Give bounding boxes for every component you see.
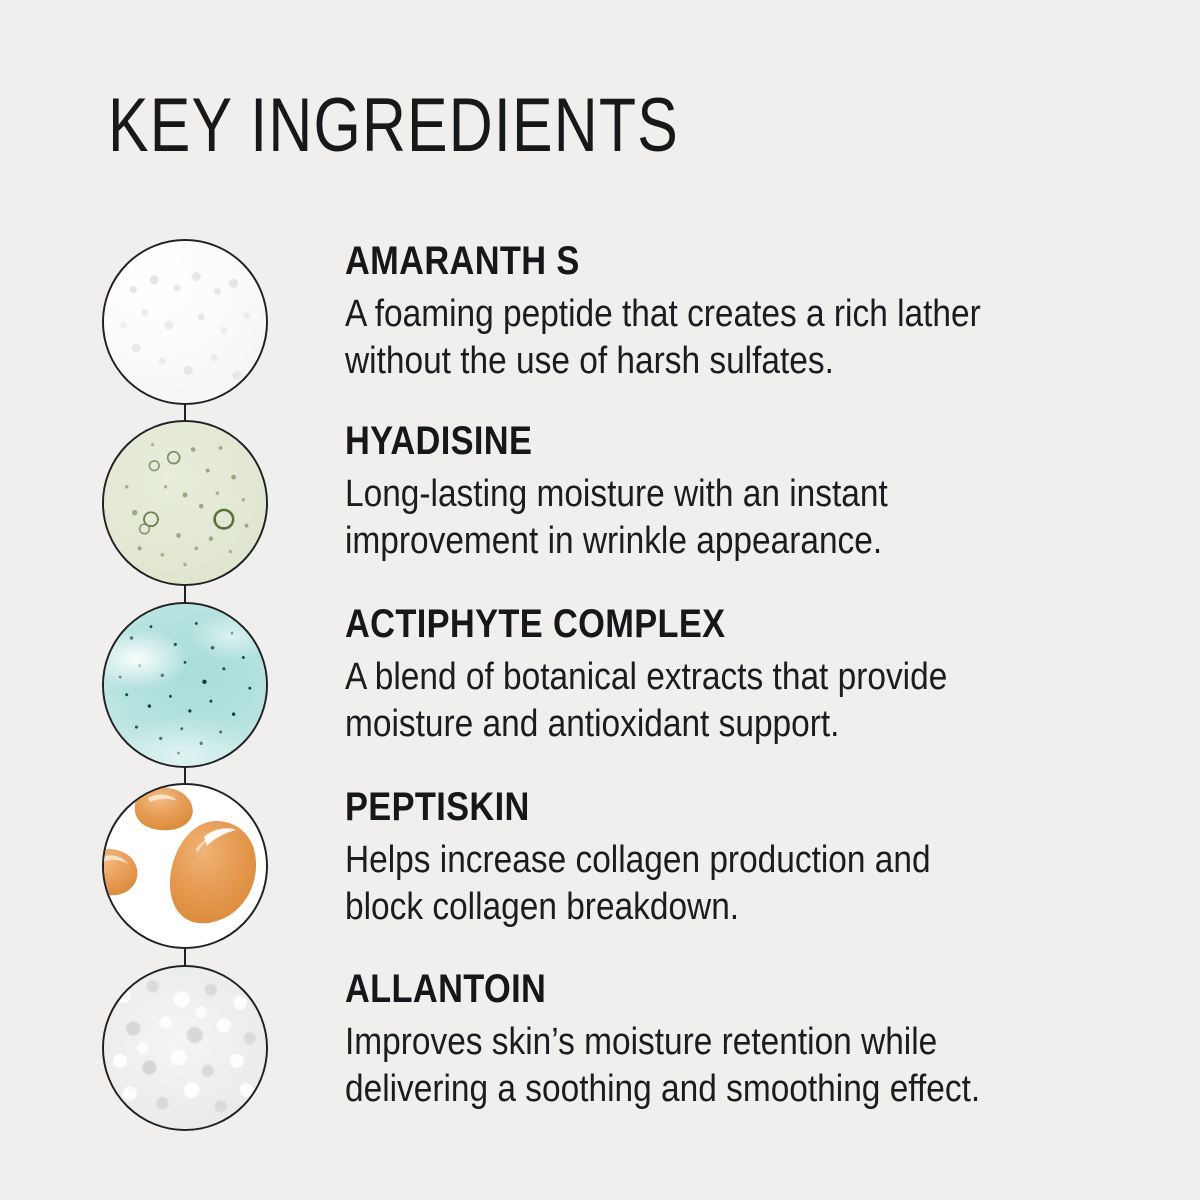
ingredient-swatch-amaranth-s [102,239,268,405]
list-item: HYADISINE Long-lasting moisture with an … [345,421,1090,565]
ingredient-swatch-peptiskin [102,783,268,949]
swatch-chain [0,0,300,1200]
ingredient-swatch-hyadisine [102,420,268,586]
ingredient-name: HYADISINE [345,421,986,462]
ingredient-name: ACTIPHYTE COMPLEX [345,604,986,645]
connector-line [184,586,186,620]
white-powder-swatch-icon [104,967,266,1129]
ingredient-description: A blend of botanical extracts that provi… [345,654,1001,748]
orange-serum-blobs [104,785,268,949]
ingredient-description: Long-lasting moisture with an instant im… [345,471,1001,565]
list-item: ALLANTOIN Improves skin’s moisture reten… [345,969,1090,1113]
orange-serum-swatch-icon [104,785,266,947]
ingredient-description: A foaming peptide that creates a rich la… [345,291,1001,385]
ingredient-description: Helps increase collagen production and b… [345,837,1001,931]
ingredient-name: PEPTISKIN [345,787,986,828]
connector-line [184,767,186,801]
ingredient-list: AMARANTH S A foaming peptide that create… [345,0,1105,1200]
aqua-gel-speckle-texture [104,604,266,766]
connector-line [184,949,186,983]
ingredient-name: ALLANTOIN [345,969,986,1010]
key-ingredients-panel: KEY INGREDIENTS [0,0,1200,1200]
aqua-gel-sheen [104,604,266,766]
list-item: ACTIPHYTE COMPLEX A blend of botanical e… [345,604,1090,748]
ingredient-description: Improves skin’s moisture retention while… [345,1019,1001,1113]
foam-swatch-icon [104,241,266,403]
ingredient-name: AMARANTH S [345,241,986,282]
list-item: AMARANTH S A foaming peptide that create… [345,241,1090,385]
list-item: PEPTISKIN Helps increase collagen produc… [345,787,1090,931]
ingredient-swatch-actiphyte-complex [102,602,268,768]
ingredient-swatch-allantoin [102,965,268,1131]
green-gel-bubbles-texture [104,422,266,584]
powder-grain-texture [104,967,266,1129]
foam-bubbles-texture [104,241,266,403]
connector-line [184,404,186,438]
green-gel-swatch-icon [104,422,266,584]
aqua-gel-swatch-icon [104,604,266,766]
